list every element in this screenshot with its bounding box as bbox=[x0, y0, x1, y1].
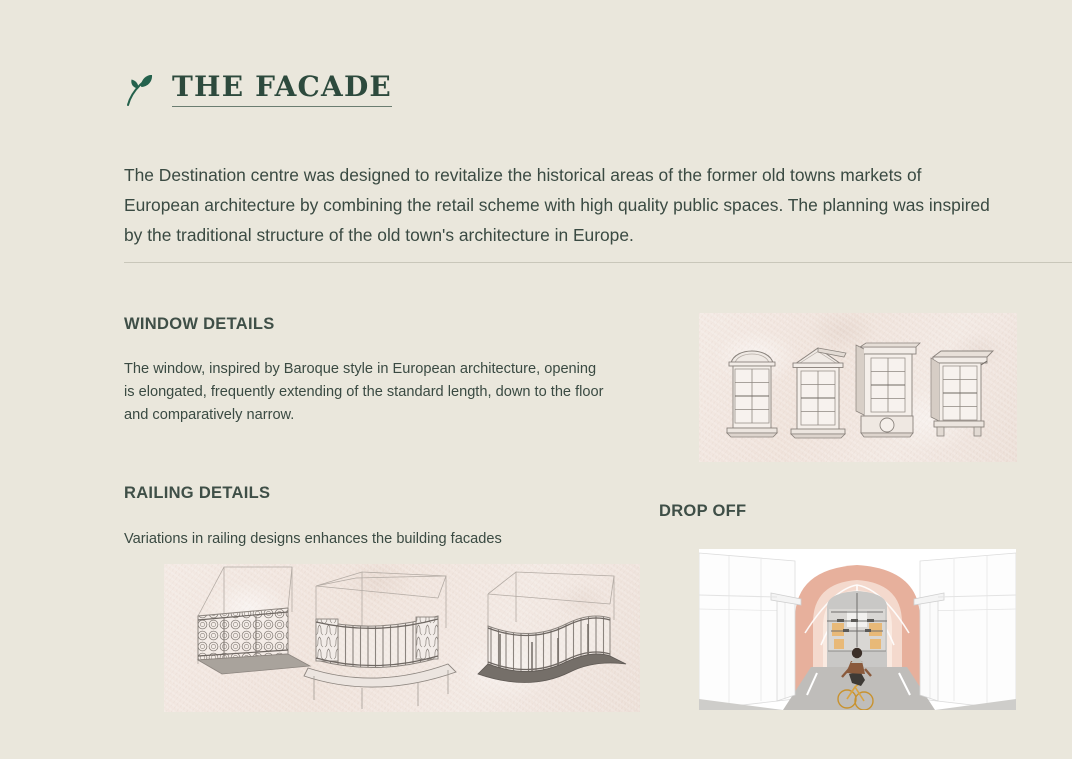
leaf-sprig-icon bbox=[124, 73, 154, 107]
drop-off-render bbox=[699, 549, 1016, 710]
window-details-body: The window, inspired by Baroque style in… bbox=[124, 358, 604, 427]
section-divider bbox=[124, 262, 1072, 263]
page-header: THE FACADE bbox=[124, 72, 392, 107]
railing-details-heading: RAILING DETAILS bbox=[124, 484, 270, 503]
facade-page: THE FACADE The Destination centre was de… bbox=[0, 0, 1072, 759]
window-details-figure bbox=[699, 313, 1017, 462]
window-details-heading: WINDOW DETAILS bbox=[124, 315, 275, 334]
page-title: THE FACADE bbox=[172, 72, 392, 107]
drop-off-heading: DROP OFF bbox=[659, 502, 746, 521]
window-sketches bbox=[699, 313, 1017, 462]
intro-paragraph: The Destination centre was designed to r… bbox=[124, 160, 994, 250]
drop-off-figure bbox=[699, 549, 1016, 710]
railing-sketches bbox=[164, 564, 640, 712]
railing-details-body: Variations in railing designs enhances t… bbox=[124, 528, 644, 551]
railing-details-figure bbox=[164, 564, 640, 712]
